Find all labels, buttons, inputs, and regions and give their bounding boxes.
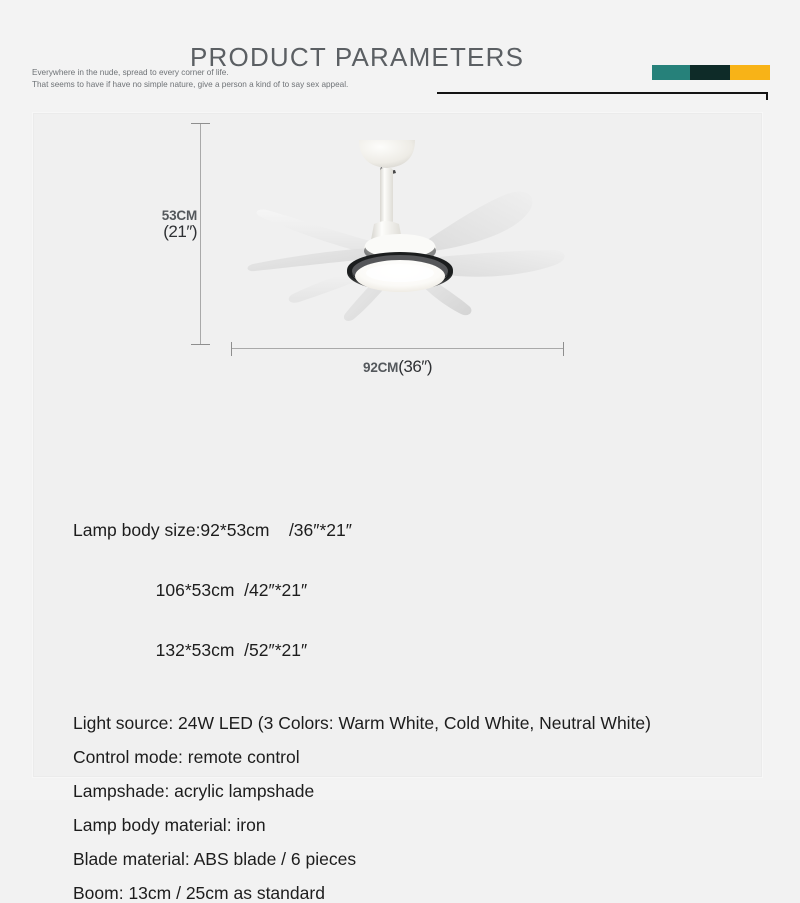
height-value-inch: (21″) [153,223,197,241]
color-swatch-bar [652,65,770,80]
swatch-teal [652,65,690,80]
width-value-inch: (36″) [398,357,432,376]
height-dimension-line [200,123,201,345]
page-header: PRODUCT PARAMETERS Everywhere in the nud… [0,0,800,112]
height-dimension-label: 53CM (21″) [153,209,197,241]
spec-lamp-body-size: Lamp body size:92*53cm /36″*21″ 106*53cm… [73,480,743,700]
header-tagline: Everywhere in the nude, spread to every … [32,67,348,90]
spec-control-mode: Control mode: remote control [73,747,743,767]
spec-boom: Boom: 13cm / 25cm as standard [73,883,743,903]
spec-lampshade: Lampshade: acrylic lampshade [73,781,743,801]
width-dimension-line [231,348,564,349]
width-dimension-cap-left [231,342,232,356]
lamp-size-row-1: Lamp body size:92*53cm /36″*21″ [73,520,743,540]
height-dimension-cap-top [191,123,210,124]
swatch-orange [730,65,770,80]
product-parameters-page: PRODUCT PARAMETERS Everywhere in the nud… [0,0,800,800]
swatch-dark-green [690,65,730,80]
ceiling-fan-illustration [231,132,571,344]
dimension-diagram: 53CM (21″) [34,114,761,394]
lamp-size-row-3: 132*53cm /52″*21″ [73,640,743,660]
header-rule-end-tick [766,92,768,100]
header-rule-line [437,92,768,94]
content-panel: 53CM (21″) [33,113,762,777]
height-value-cm: 53CM [153,209,197,223]
tagline-line-1: Everywhere in the nude, spread to every … [32,67,348,79]
spec-light-source: Light source: 24W LED (3 Colors: Warm Wh… [73,713,743,733]
spec-lamp-body-material: Lamp body material: iron [73,815,743,835]
width-value-cm: 92CM [363,360,398,375]
width-dimension-label: 92CM(36″) [231,357,564,377]
ceiling-fan-graphic [231,132,571,344]
width-dimension-cap-right [563,342,564,356]
lamp-size-row-2: 106*53cm /42″*21″ [73,580,743,600]
tagline-line-2: That seems to have if have no simple nat… [32,79,348,91]
specification-list: Lamp body size:92*53cm /36″*21″ 106*53cm… [73,480,743,903]
height-dimension-cap-bottom [191,344,210,345]
spec-blade-material: Blade material: ABS blade / 6 pieces [73,849,743,869]
